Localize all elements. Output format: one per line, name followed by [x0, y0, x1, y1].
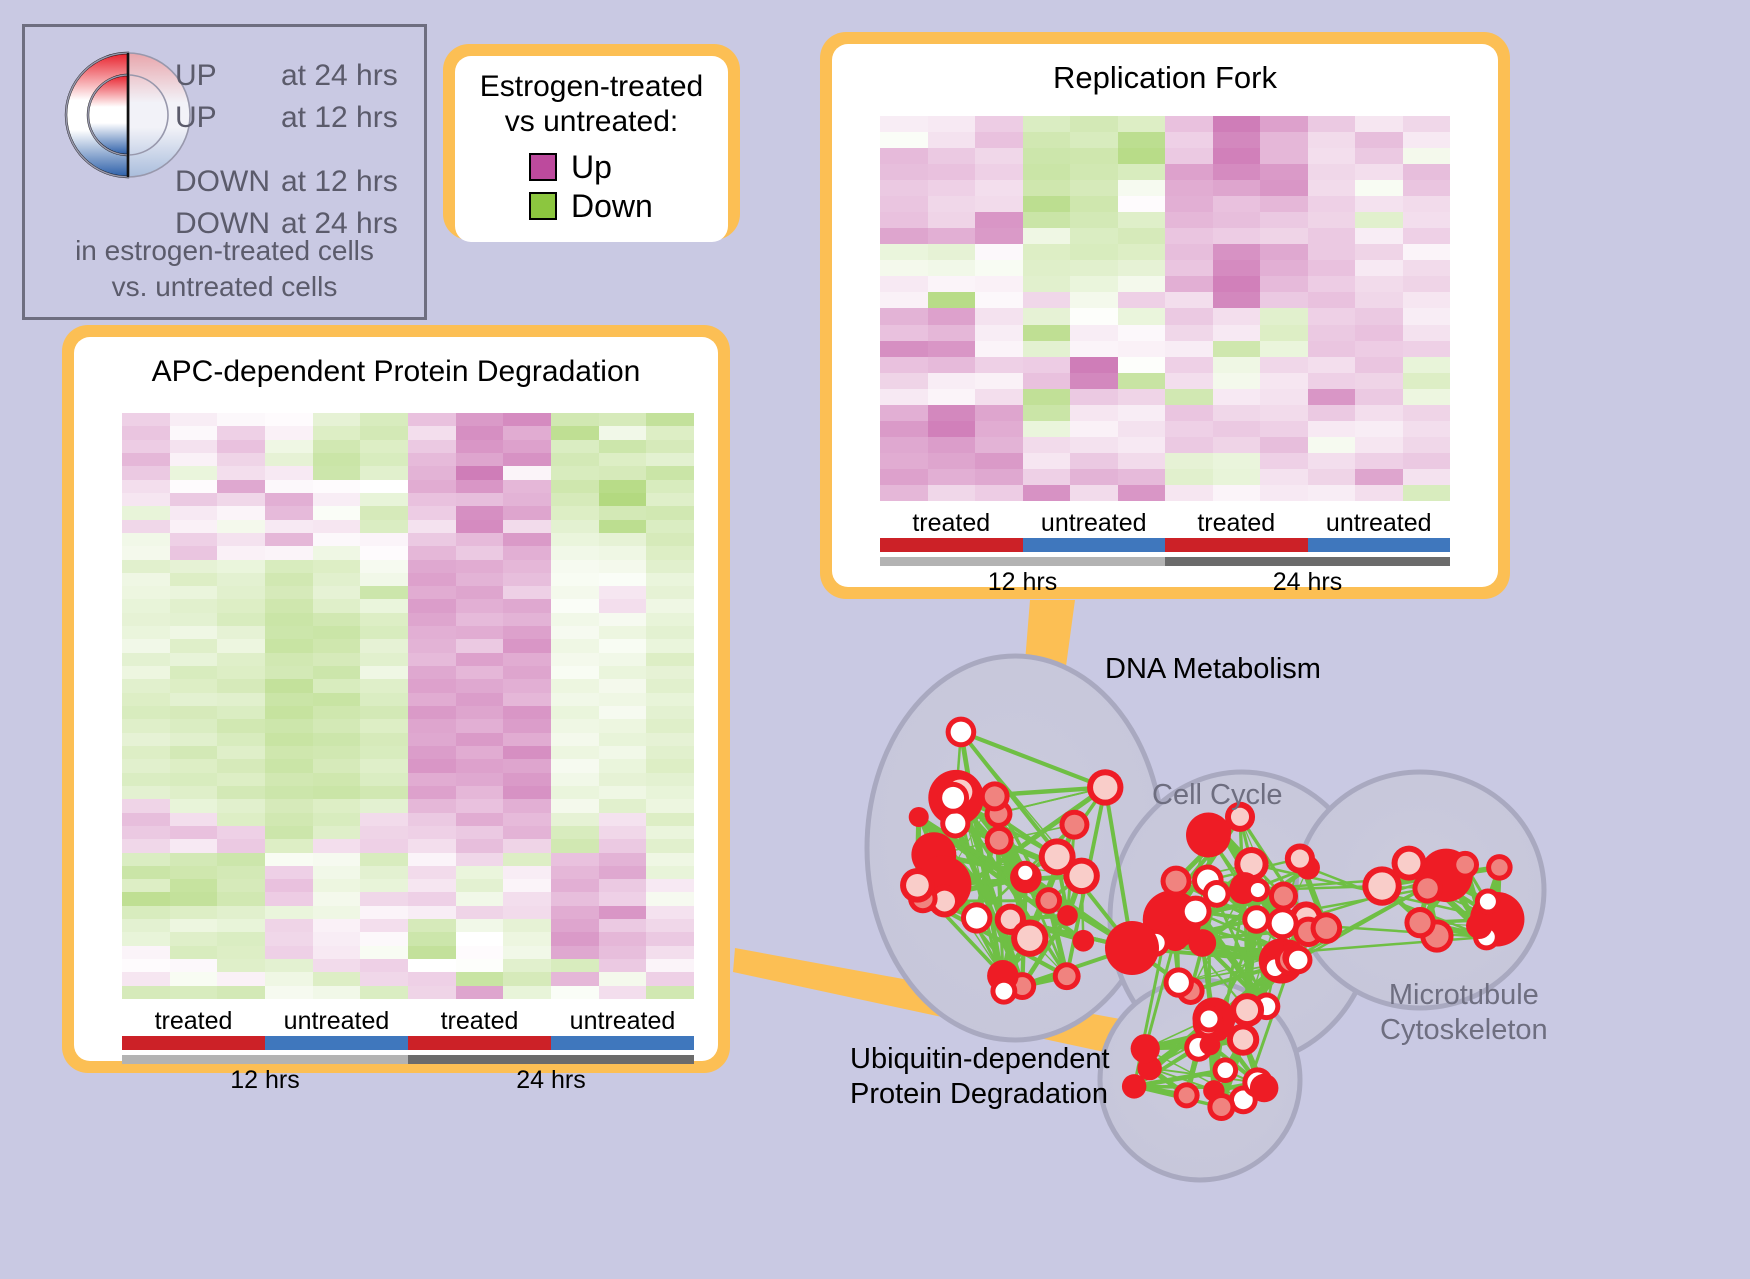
heatmap-cell [599, 706, 647, 719]
heatmap-cell [1165, 469, 1213, 485]
heatmap-cell [170, 906, 218, 919]
heatmap-cell [646, 560, 694, 573]
heatmap-cell [456, 586, 504, 599]
colorwheel-row: UP at 12 hrs [175, 101, 425, 143]
heatmap-cell [217, 759, 265, 772]
heatmap-cell [170, 892, 218, 905]
heatmap-cell [170, 413, 218, 426]
heatmap-cell [1213, 164, 1261, 180]
heatmap-cell [122, 706, 170, 719]
legend-title-line-2: vs untreated: [455, 105, 728, 140]
network-node [1069, 864, 1093, 888]
heatmap-cell [122, 506, 170, 519]
heatmap-cell [122, 839, 170, 852]
heatmap-cell [928, 421, 976, 437]
pathway-network: DNA Metabolism Cell Cycle Microtubule Cy… [780, 600, 1750, 1279]
heatmap-cell [360, 719, 408, 732]
heatmap-cell [265, 719, 313, 732]
heatmap-cell [408, 599, 456, 612]
heatmap-cell [456, 533, 504, 546]
heatmap-cell [1355, 437, 1403, 453]
heatmap-cell [360, 786, 408, 799]
heatmap-cell [880, 421, 928, 437]
heatmap-cell [1355, 373, 1403, 389]
heatmap-cell [1118, 437, 1166, 453]
heatmap-cell [1213, 469, 1261, 485]
heatmap-cell [503, 853, 551, 866]
heatmap-cell [408, 693, 456, 706]
heatmap-cell [1308, 116, 1356, 132]
heatmap-cell [1355, 389, 1403, 405]
heatmap-cell [503, 453, 551, 466]
heatmap-cell [122, 786, 170, 799]
heatmap-cell [217, 613, 265, 626]
heatmap-cell [265, 626, 313, 639]
treatment-label: untreated [551, 1007, 694, 1036]
heatmap-cell [975, 132, 1023, 148]
heatmap-cell [265, 480, 313, 493]
network-node [1188, 929, 1216, 957]
heatmap-cell [503, 919, 551, 932]
heatmap-cell [880, 196, 928, 212]
heatmap-cell [1260, 196, 1308, 212]
heatmap-cell [456, 560, 504, 573]
heatmap-cell [217, 706, 265, 719]
heatmap-cell [408, 733, 456, 746]
heatmap-cell [313, 440, 361, 453]
heatmap-cell [360, 826, 408, 839]
heatmap-cell [1213, 292, 1261, 308]
figure-canvas: UP at 24 hrs UP at 12 hrs DOWN at 12 hrs… [0, 0, 1750, 1279]
heatmap-cell [928, 212, 976, 228]
heatmap-cell [1213, 421, 1261, 437]
network-node [1200, 1010, 1217, 1027]
heatmap-cell [408, 892, 456, 905]
heatmap-cell [1070, 260, 1118, 276]
heatmap-cell [313, 853, 361, 866]
heatmap-cell [646, 932, 694, 945]
heatmap-cell [975, 164, 1023, 180]
heatmap-cell [408, 679, 456, 692]
heatmap-cell [551, 879, 599, 892]
heatmap-cell [313, 693, 361, 706]
heatmap-cell [975, 437, 1023, 453]
heatmap-cell [265, 972, 313, 985]
heatmap-cell [265, 706, 313, 719]
heatmap-cell [217, 799, 265, 812]
heatmap-cell [360, 413, 408, 426]
heatmap-cell [1070, 292, 1118, 308]
heatmap-cell [975, 292, 1023, 308]
heatmap-cell [1070, 244, 1118, 260]
heatmap-cell [646, 972, 694, 985]
network-node [1233, 1029, 1253, 1049]
heatmap-cell [551, 413, 599, 426]
network-node [1185, 901, 1207, 923]
heatmap-cell [1260, 357, 1308, 373]
heatmap-cell [170, 813, 218, 826]
heatmap-cell [456, 866, 504, 879]
treatment-bar-segment [265, 1036, 408, 1050]
heatmap-cell [408, 426, 456, 439]
heatmap-cell [503, 639, 551, 652]
heatmap-cell [1403, 196, 1451, 212]
heatmap-cell [646, 706, 694, 719]
heatmap-cell [1023, 260, 1071, 276]
heatmap-cell [217, 666, 265, 679]
heatmap-cell [1308, 341, 1356, 357]
heatmap-cell [122, 599, 170, 612]
heatmap-cell [1355, 341, 1403, 357]
heatmap-cell [122, 879, 170, 892]
time-label: 12 hrs [880, 568, 1165, 597]
heatmap-cell [1023, 357, 1071, 373]
heatmap-cell [975, 421, 1023, 437]
heatmap-cell [880, 180, 928, 196]
heatmap-cell [646, 799, 694, 812]
heatmap-cell [551, 533, 599, 546]
heatmap-cell [928, 373, 976, 389]
network-node [1072, 930, 1094, 952]
heatmap-cell [170, 853, 218, 866]
treatment-bar-segment [122, 1036, 265, 1050]
heatmap-cell [1403, 244, 1451, 260]
heatmap-cell [1355, 357, 1403, 373]
apc-degradation-card: APC-dependent Protein Degradation treate… [62, 325, 730, 1073]
heatmap-cell [551, 866, 599, 879]
heatmap-cell [1213, 341, 1261, 357]
network-node [951, 722, 972, 743]
heatmap-cell [265, 586, 313, 599]
heatmap-cell [1023, 244, 1071, 260]
heatmap-cell [551, 839, 599, 852]
heatmap-cell [551, 986, 599, 999]
heatmap-cell [122, 666, 170, 679]
heatmap-cell [1260, 341, 1308, 357]
heatmap-cell [170, 586, 218, 599]
heatmap-cell [503, 892, 551, 905]
heatmap-cell [928, 228, 976, 244]
network-node [1368, 872, 1395, 899]
heatmap-cell [122, 719, 170, 732]
treatment-bar-segment [408, 1036, 551, 1050]
heatmap-cell [928, 196, 976, 212]
heatmap-cell [646, 773, 694, 786]
heatmap-cell [217, 719, 265, 732]
heatmap-cell [313, 733, 361, 746]
heatmap-cell [122, 653, 170, 666]
heatmap-cell [503, 773, 551, 786]
heatmap-cell [551, 480, 599, 493]
heatmap-cell [360, 706, 408, 719]
heatmap-cell [928, 453, 976, 469]
heatmap-cell [1308, 164, 1356, 180]
heatmap-cell [170, 546, 218, 559]
heatmap-cell [122, 493, 170, 506]
heatmap-cell [408, 520, 456, 533]
heatmap-cell [1260, 469, 1308, 485]
heatmap-cell [456, 813, 504, 826]
heatmap-cell [360, 892, 408, 905]
heatmap-cell [170, 506, 218, 519]
replication-fork-card: Replication Fork treated untreated treat… [820, 32, 1510, 599]
heatmap-cell [265, 826, 313, 839]
heatmap-cell [1023, 341, 1071, 357]
heatmap-cell [408, 866, 456, 879]
ubiquitin-line-1: Ubiquitin-dependent [850, 1042, 1110, 1077]
heatmap-cell [1213, 405, 1261, 421]
network-node [1200, 1035, 1221, 1056]
heatmap-cell [408, 932, 456, 945]
heatmap-cell [599, 786, 647, 799]
heatmap-cell [360, 560, 408, 573]
heatmap-cell [1070, 325, 1118, 341]
heatmap-cell [1070, 116, 1118, 132]
heatmap-cell [503, 440, 551, 453]
heatmap-cell [1260, 308, 1308, 324]
heatmap-cell [217, 959, 265, 972]
time-label: 24 hrs [408, 1066, 694, 1095]
time-label-row: 12 hrs 24 hrs [880, 568, 1450, 597]
heatmap-cell [170, 972, 218, 985]
heatmap-cell [408, 493, 456, 506]
heatmap-cell [313, 426, 361, 439]
heatmap-cell [975, 389, 1023, 405]
time-label: 24 hrs [1165, 568, 1450, 597]
heatmap-cell [360, 613, 408, 626]
heatmap-cell [880, 405, 928, 421]
heatmap-cell [599, 599, 647, 612]
treatment-color-bar [122, 1036, 694, 1050]
heatmap-cell [1355, 148, 1403, 164]
heatmap-cell [170, 560, 218, 573]
heatmap-cell [551, 466, 599, 479]
heatmap-cell [551, 506, 599, 519]
heatmap-cell [313, 892, 361, 905]
row-time: at 24 hrs [281, 59, 398, 93]
heatmap-cell [551, 706, 599, 719]
time-bar-segment [408, 1055, 694, 1064]
heatmap-cell [170, 599, 218, 612]
heatmap-cell [360, 746, 408, 759]
heatmap-cell [122, 733, 170, 746]
heatmap-cell [1118, 389, 1166, 405]
heatmap-cell [1023, 373, 1071, 389]
row-direction: UP [175, 59, 281, 93]
heatmap-cell [217, 426, 265, 439]
heatmap-cell [217, 586, 265, 599]
heatmap-cell [1403, 308, 1451, 324]
heatmap-cell [928, 180, 976, 196]
heatmap-cell [456, 733, 504, 746]
heatmap-cell [503, 533, 551, 546]
heatmap-cell [880, 292, 928, 308]
heatmap-cell [599, 546, 647, 559]
heatmap-cell [1260, 116, 1308, 132]
heatmap-cell [646, 506, 694, 519]
time-color-bar [880, 557, 1450, 566]
heatmap-cell [599, 719, 647, 732]
network-node [1105, 921, 1159, 975]
heatmap-cell [170, 706, 218, 719]
heatmap-cell [360, 453, 408, 466]
heatmap-cell [1403, 453, 1451, 469]
heatmap-cell [1260, 405, 1308, 421]
heatmap-cell [880, 260, 928, 276]
heatmap-cell [1308, 373, 1356, 389]
heatmap-cell [1403, 276, 1451, 292]
heatmap-cell [1260, 485, 1308, 501]
treatment-bar-segment [880, 538, 1023, 552]
heatmap-cell [456, 653, 504, 666]
heatmap-cell [1260, 148, 1308, 164]
heatmap-cell [360, 986, 408, 999]
heatmap-cell [1403, 485, 1451, 501]
heatmap-cell [1070, 212, 1118, 228]
heatmap-cell [1213, 373, 1261, 389]
heatmap-cell [265, 892, 313, 905]
heatmap-cell [1070, 469, 1118, 485]
treatment-bar-segment [1308, 538, 1451, 552]
heatmap-cell [360, 599, 408, 612]
heatmap-cell [265, 546, 313, 559]
heatmap-cell [265, 599, 313, 612]
heatmap-cell [1403, 469, 1451, 485]
heatmap-cell [1070, 405, 1118, 421]
heatmap-cell [313, 493, 361, 506]
legend-title: Estrogen-treated vs untreated: [455, 70, 728, 140]
heatmap-cell [1308, 244, 1356, 260]
colorwheel-row: UP at 24 hrs [175, 59, 425, 101]
heatmap-cell [975, 485, 1023, 501]
colorwheel-row-list: UP at 24 hrs UP at 12 hrs DOWN at 12 hrs… [175, 59, 425, 249]
colorwheel-row: DOWN at 12 hrs [175, 165, 425, 207]
heatmap-cell [217, 560, 265, 573]
network-node [1480, 893, 1496, 909]
heatmap-cell [1023, 453, 1071, 469]
heatmap-cell [646, 746, 694, 759]
heatmap-cell [599, 440, 647, 453]
heatmap-cell [360, 520, 408, 533]
heatmap-cell [880, 276, 928, 292]
heatmap-cell [313, 573, 361, 586]
heatmap-cell [122, 520, 170, 533]
heatmap-cell [217, 480, 265, 493]
heatmap-cell [122, 946, 170, 959]
heatmap-cell [408, 466, 456, 479]
heatmap-cell [265, 679, 313, 692]
heatmap-cell [975, 260, 1023, 276]
legend-item-down: Down [529, 187, 728, 226]
heatmap-cell [1355, 421, 1403, 437]
heatmap-cell [1308, 148, 1356, 164]
time-color-bar [122, 1055, 694, 1064]
heatmap-cell [880, 132, 928, 148]
heatmap-cell [408, 853, 456, 866]
heatmap-cell [456, 453, 504, 466]
heatmap-cell [646, 946, 694, 959]
heatmap-cell [456, 599, 504, 612]
heatmap-cell [1165, 260, 1213, 276]
heatmap-cell [1165, 180, 1213, 196]
heatmap-cell [928, 405, 976, 421]
heatmap-cell [122, 679, 170, 692]
heatmap-cell [646, 919, 694, 932]
treatment-label: untreated [1308, 509, 1451, 538]
heatmap-cell [313, 773, 361, 786]
heatmap-cell [1070, 148, 1118, 164]
heatmap-cell [646, 480, 694, 493]
heatmap-cell [1165, 308, 1213, 324]
heatmap-cell [503, 813, 551, 826]
heatmap-cell [122, 892, 170, 905]
heatmap-cell [1023, 405, 1071, 421]
heatmap-cell [265, 613, 313, 626]
heatmap-cell [1118, 325, 1166, 341]
heatmap-cell [217, 546, 265, 559]
heatmap-cell [360, 972, 408, 985]
network-node [1289, 951, 1308, 970]
heatmap-cell [456, 853, 504, 866]
heatmap-cell [1165, 276, 1213, 292]
heatmap-cell [975, 276, 1023, 292]
network-node [1209, 820, 1231, 842]
heatmap-cell [1403, 212, 1451, 228]
heatmap-cell [170, 786, 218, 799]
heatmap-cell [217, 693, 265, 706]
network-node [1045, 844, 1070, 869]
heatmap-cell [217, 520, 265, 533]
heatmap-cell [1070, 276, 1118, 292]
heatmap-cell [928, 357, 976, 373]
heatmap-cell [265, 932, 313, 945]
heatmap-cell [456, 426, 504, 439]
heatmap-cell [1023, 437, 1071, 453]
heatmap-cell [456, 626, 504, 639]
heatmap-cell [122, 426, 170, 439]
heatmap-cell [456, 493, 504, 506]
heatmap-cell [1165, 485, 1213, 501]
heatmap-cell [1308, 276, 1356, 292]
heatmap-cell [880, 485, 928, 501]
heatmap-cell [360, 679, 408, 692]
heatmap-cell [456, 440, 504, 453]
time-label-row: 12 hrs 24 hrs [122, 1066, 694, 1095]
heatmap-cell [1118, 373, 1166, 389]
heatmap-cell [456, 759, 504, 772]
replication-fork-heatmap [880, 116, 1450, 501]
heatmap-cell [503, 679, 551, 692]
heatmap-cell [646, 786, 694, 799]
heatmap-cell [1355, 469, 1403, 485]
heatmap-cell [313, 972, 361, 985]
heatmap-cell [503, 599, 551, 612]
heatmap-cell [503, 520, 551, 533]
network-node [1409, 912, 1430, 933]
treatment-label: treated [408, 1007, 551, 1036]
heatmap-cell [170, 493, 218, 506]
heatmap-cell [503, 866, 551, 879]
heatmap-cell [1308, 453, 1356, 469]
heatmap-cell [646, 453, 694, 466]
heatmap-cell [408, 586, 456, 599]
heatmap-cell [456, 892, 504, 905]
heatmap-cell [975, 325, 1023, 341]
heatmap-cell [599, 759, 647, 772]
row-direction: DOWN [175, 165, 281, 199]
heatmap-cell [170, 879, 218, 892]
heatmap-cell [503, 693, 551, 706]
